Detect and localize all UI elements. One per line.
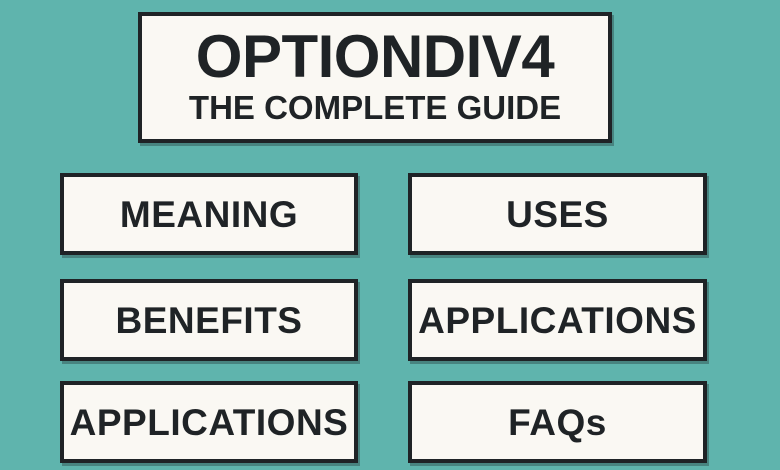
topic-card-benefits[interactable]: BENEFITS [60, 279, 358, 361]
topic-card-uses[interactable]: USES [408, 173, 707, 255]
topic-card-applications-left[interactable]: APPLICATIONS [60, 381, 358, 463]
topic-card-label: BENEFITS [116, 302, 303, 339]
poster-canvas: OPTIONDIV4 THE COMPLETE GUIDE MEANING US… [0, 0, 780, 470]
topic-card-label: USES [506, 196, 609, 233]
page-title: OPTIONDIV4 [196, 26, 554, 87]
topic-card-label: FAQs [508, 404, 607, 441]
topic-card-label: APPLICATIONS [70, 404, 349, 441]
topic-card-label: APPLICATIONS [418, 302, 697, 339]
title-card: OPTIONDIV4 THE COMPLETE GUIDE [138, 12, 612, 143]
topic-card-meaning[interactable]: MEANING [60, 173, 358, 255]
topic-card-label: MEANING [120, 196, 298, 233]
topic-card-applications-right[interactable]: APPLICATIONS [408, 279, 707, 361]
topic-card-faqs[interactable]: FAQs [408, 381, 707, 463]
page-subtitle: THE COMPLETE GUIDE [189, 91, 561, 126]
